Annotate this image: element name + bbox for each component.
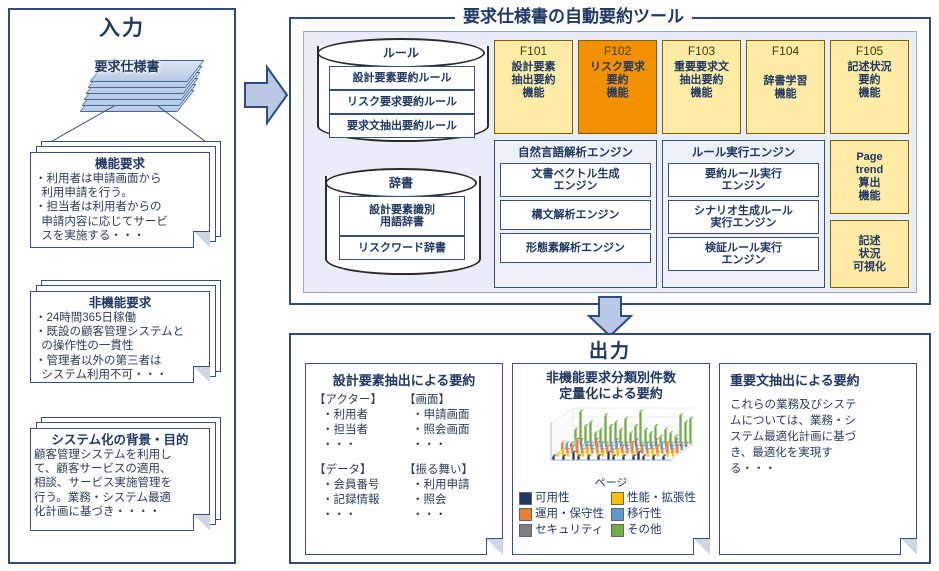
legend-label: その他: [627, 522, 662, 538]
function-box-f103[interactable]: F103 重要要求文 抽出要約 機能: [662, 40, 741, 134]
function-code: F105: [831, 44, 908, 58]
engine-item[interactable]: 構文解析エンジン: [500, 200, 651, 230]
requirement-card-body: 顧客管理システムを利用し て、顧客サービスの適用、 相談、サービス実施管理を 行…: [31, 448, 209, 519]
output-column-screen: 【画面】 ・申請画面 ・照会画面 ・・・: [404, 393, 494, 453]
page-fold-corner: [193, 514, 210, 531]
page-trend-calculation-box[interactable]: Page trend 算出 機能: [830, 140, 909, 214]
output-column-behavior: 【振る舞い】 ・利用申請 ・照会 ・・・: [404, 463, 494, 523]
description-status-visualization-box[interactable]: 記述 状況 可視化: [830, 220, 909, 288]
requirements-document-label: 要求仕様書: [60, 56, 194, 75]
column-item: ・記録情報: [314, 493, 404, 508]
rules-datastore[interactable]: ルール 設計要素要約ルール リスク要求要約ルール 要求文抽出要約ルール: [317, 38, 485, 140]
page-fold-corner: [193, 366, 210, 383]
legend-item: 移行性: [611, 506, 703, 522]
legend-swatch-icon: [611, 524, 624, 537]
legend-swatch-icon: [611, 508, 624, 521]
column-item: ・会員番号: [314, 478, 404, 493]
column-header: 【データ】: [314, 463, 404, 478]
legend-item: セキュリティ: [519, 522, 611, 538]
page-fold-corner: [486, 538, 503, 555]
page-fold-corner: [900, 538, 917, 555]
function-code: F103: [663, 44, 740, 58]
legend-label: 性能・拡張性: [627, 490, 696, 506]
engine-group-nlp: 自然言語解析エンジン 文書ベクトル生成 エンジン 構文解析エンジン 形態素解析エ…: [494, 140, 657, 288]
column-item: ・・・: [404, 508, 494, 523]
legend-item: その他: [611, 522, 703, 538]
engine-item[interactable]: 要約ルール実行 エンジン: [668, 163, 819, 197]
legend-item: 運用・保守性: [519, 506, 611, 522]
output-card-key-sentence-summary[interactable]: 重要文抽出による要約 これらの業務及びシステ ムについては、業務・シ ステム最適…: [719, 363, 917, 555]
column-item: ・申請画面: [404, 408, 494, 423]
legend-label: 移行性: [627, 506, 662, 522]
arrow-right-icon: [243, 55, 289, 135]
engine-group-title: ルール実行エンジン: [663, 141, 824, 160]
rules-datastore-label: ルール: [317, 44, 485, 61]
column-item: ・・・: [314, 438, 404, 453]
output-card-title: 設計要素抽出による要約: [306, 370, 502, 389]
output-card-body: これらの業務及びシステ ムについては、業務・シ ステム最適化計画に基づ き、最適…: [720, 389, 916, 477]
output-card-design-element-summary[interactable]: 設計要素抽出による要約 【アクター】 ・利用者 ・担当者 ・・・ 【画面】 ・申…: [305, 363, 503, 555]
rule-item[interactable]: リスク要求要約ルール: [329, 90, 475, 114]
requirement-card-title: 機能要求: [31, 157, 209, 172]
engine-item[interactable]: 形態素解析エンジン: [500, 233, 651, 263]
legend-item: 可用性: [519, 490, 611, 506]
function-name: 重要要求文 抽出要約 機能: [663, 61, 740, 100]
function-box-f105[interactable]: F105 記述状況 要約 機能: [830, 40, 909, 134]
legend-label: 運用・保守性: [535, 506, 604, 522]
requirement-card-title: 非機能要求: [31, 296, 209, 311]
output-card-title: 非機能要求分類別件数 定量化による要約: [513, 370, 709, 402]
input-panel-title: 入力: [8, 12, 236, 42]
column-item: ・利用者: [314, 408, 404, 423]
legend-swatch-icon: [519, 508, 532, 521]
page-fold-corner: [193, 231, 210, 248]
function-name: 記述状況 要約 機能: [831, 61, 908, 100]
legend-label: 可用性: [535, 490, 570, 506]
function-code: F101: [495, 44, 572, 58]
function-box-f101[interactable]: F101 設計要素 抽出要約 機能: [494, 40, 573, 134]
column-item: ・照会: [404, 493, 494, 508]
output-panel-title: 出力: [289, 336, 931, 363]
engine-item[interactable]: 文書ベクトル生成 エンジン: [500, 163, 651, 197]
legend-item: 性能・拡張性: [611, 490, 703, 506]
function-code: F104: [747, 44, 824, 58]
legend-swatch-icon: [611, 492, 624, 505]
dictionary-item[interactable]: 設計要素識別 用語辞書: [339, 196, 465, 236]
dictionary-datastore-label: 辞書: [325, 174, 477, 191]
output-column-data: 【データ】 ・会員番号 ・記録情報 ・・・: [314, 463, 404, 523]
chart-legend: 可用性性能・拡張性運用・保守性移行性セキュリティその他: [513, 490, 709, 538]
legend-swatch-icon: [519, 524, 532, 537]
column-item: ・照会画面: [404, 423, 494, 438]
requirement-card-background-purpose[interactable]: システム化の背景・目的 顧客管理システムを利用し て、顧客サービスの適用、 相談…: [30, 428, 210, 531]
output-card-columns-bottom: 【データ】 ・会員番号 ・記録情報 ・・・ 【振る舞い】 ・利用申請 ・照会 ・…: [306, 453, 502, 523]
column-item: ・利用申請: [404, 478, 494, 493]
requirement-card-functional[interactable]: 機能要求 ・利用者は申請画面から 利用申請を行う。 ・担当者は利用者からの 申請…: [30, 152, 210, 248]
rule-item[interactable]: 設計要素要約ルール: [329, 66, 475, 90]
dictionary-item[interactable]: リスクワード辞書: [339, 236, 465, 260]
rule-item[interactable]: 要求文抽出要約ルール: [329, 114, 475, 138]
engine-item[interactable]: シナリオ生成ルール 実行エンジン: [668, 200, 819, 234]
output-column-actor: 【アクター】 ・利用者 ・担当者 ・・・: [314, 393, 404, 453]
column-item: ・・・: [314, 508, 404, 523]
column-item: ・担当者: [314, 423, 404, 438]
dictionary-datastore[interactable]: 辞書 設計要素識別 用語辞書 リスクワード辞書: [325, 168, 477, 273]
function-name: リスク要求 要約 機能: [579, 61, 656, 100]
nonfunctional-3d-bar-chart: [525, 404, 697, 476]
legend-swatch-icon: [519, 492, 532, 505]
output-card-columns-top: 【アクター】 ・利用者 ・担当者 ・・・ 【画面】 ・申請画面 ・照会画面 ・・…: [306, 389, 502, 453]
function-name: 辞書学習 機能: [747, 75, 824, 101]
requirement-card-nonfunctional[interactable]: 非機能要求 ・24時間365日稼働 ・既設の顧客管理システムと の操作性の一貫性…: [30, 291, 210, 383]
output-card-nonfunctional-quantification[interactable]: 非機能要求分類別件数 定量化による要約 ページ 可用性性能・拡張性運用・保守性移…: [512, 363, 710, 555]
column-header: 【振る舞い】: [404, 463, 494, 478]
engine-group-rule-exec: ルール実行エンジン 要約ルール実行 エンジン シナリオ生成ルール 実行エンジン …: [662, 140, 825, 288]
requirement-card-title: システム化の背景・目的: [31, 433, 209, 448]
page-fold-corner: [693, 538, 710, 555]
engine-item[interactable]: 検証ルール実行 エンジン: [668, 237, 819, 271]
requirement-card-body: ・24時間365日稼働 ・既設の顧客管理システムと の操作性の一貫性 ・管理者以…: [31, 311, 209, 382]
column-header: 【アクター】: [314, 393, 404, 408]
chart-x-axis-label: ページ: [513, 474, 709, 490]
legend-label: セキュリティ: [535, 522, 603, 538]
function-box-f102[interactable]: F102 リスク要求 要約 機能: [578, 40, 657, 134]
function-name: 設計要素 抽出要約 機能: [495, 61, 572, 100]
requirement-card-body: ・利用者は申請画面から 利用申請を行う。 ・担当者は利用者からの 申請内容に応じ…: [31, 172, 209, 243]
column-header: 【画面】: [404, 393, 494, 408]
arrow-down-icon: [587, 296, 633, 338]
column-item: ・・・: [404, 438, 494, 453]
tool-panel-title: 要求仕様書の自動要約ツール: [455, 2, 692, 27]
engine-group-title: 自然言語解析エンジン: [495, 141, 656, 160]
function-code: F102: [579, 44, 656, 58]
output-card-title: 重要文抽出による要約: [720, 370, 916, 389]
function-box-f104[interactable]: F104 辞書学習 機能: [746, 40, 825, 134]
